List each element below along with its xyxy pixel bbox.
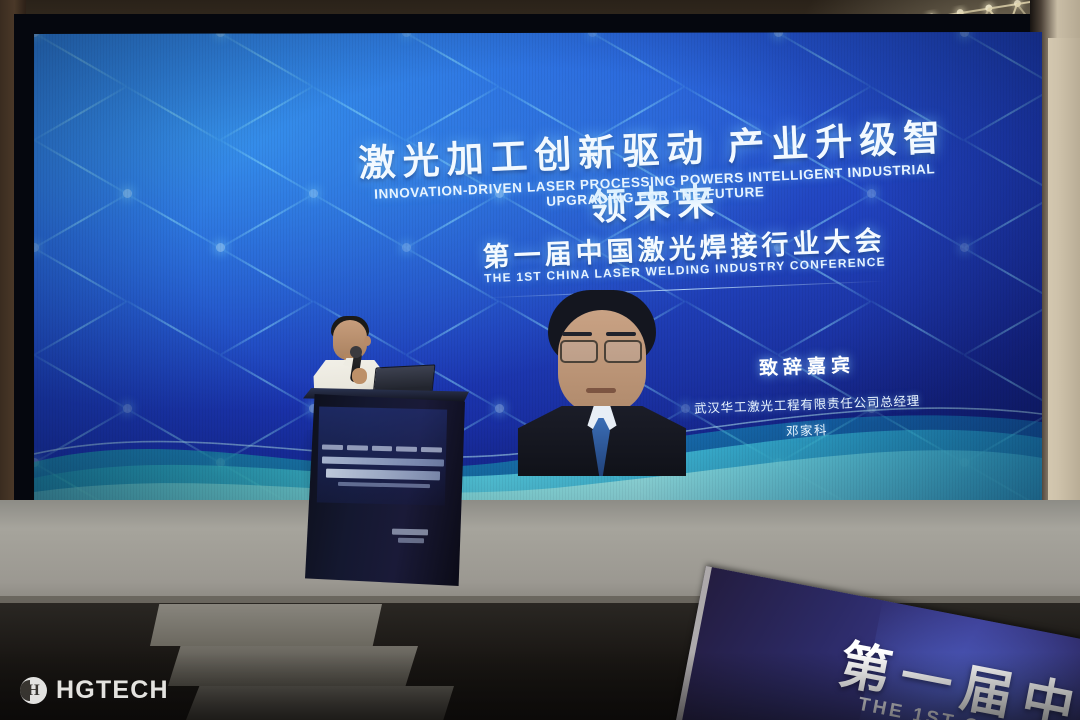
- hexnet-edge: [964, 86, 1043, 141]
- hexnet-edge: [964, 32, 1043, 87]
- podium-logo-3: [372, 445, 393, 451]
- microphone-head: [350, 346, 362, 358]
- hexnet-edge: [964, 193, 1043, 248]
- screenshot-root: 激光加工创新驱动 产业升级智领未来 INNOVATION-DRIVEN LASE…: [0, 0, 1080, 720]
- hexnet-edge: [127, 32, 221, 34]
- stage-step-3: [186, 686, 454, 720]
- podium-logo-2: [347, 445, 368, 451]
- hexnet-edge: [34, 32, 127, 34]
- hexnet-edge: [34, 86, 127, 141]
- hexnet-edge: [964, 140, 1043, 195]
- hexnet-edge: [313, 32, 407, 34]
- wall-right-panel: [1048, 38, 1080, 558]
- portrait-brow-left: [562, 332, 592, 336]
- lattice-bar: [988, 3, 1017, 10]
- hexnet-edge: [685, 301, 779, 356]
- hexnet-edge: [34, 32, 127, 87]
- hexnet-edge: [220, 140, 314, 195]
- hexnet-edge: [964, 32, 1043, 34]
- podium-logo-4: [396, 446, 417, 452]
- hexnet-edge: [778, 32, 872, 87]
- podium-foot-text: [398, 538, 424, 544]
- hexnet-edge: [871, 32, 965, 34]
- hexnet-edge: [406, 32, 500, 87]
- hexnet-node: [123, 189, 132, 198]
- hexnet-edge: [964, 247, 1043, 302]
- hexnet-edge: [34, 193, 127, 248]
- hexnet-edge: [964, 301, 1043, 356]
- stage-edge: [0, 596, 1080, 603]
- hexnet-edge: [127, 301, 221, 356]
- hexnet-edge: [778, 301, 872, 356]
- hexnet-edge: [34, 247, 127, 302]
- speaker-ear: [364, 336, 371, 346]
- podium-logo-1: [322, 444, 343, 450]
- portrait-glasses-right: [604, 340, 642, 363]
- led-screen: 激光加工创新驱动 产业升级智领未来 INNOVATION-DRIVEN LASE…: [34, 32, 1042, 510]
- speaker-hand: [352, 368, 367, 384]
- speaker-portrait: [512, 284, 692, 476]
- stage-step-1: [150, 604, 382, 646]
- hexnet-edge: [34, 140, 127, 195]
- hexnet-edge: [34, 301, 127, 356]
- hexnet-edge: [220, 193, 314, 248]
- hexnet-edge: [220, 86, 314, 141]
- hexnet-edge: [127, 193, 221, 248]
- hexnet-node: [402, 243, 411, 252]
- hexnet-edge: [220, 301, 314, 356]
- hexnet-edge: [592, 32, 686, 34]
- portrait-glasses-left: [560, 340, 598, 363]
- hgtech-logo-icon: H: [20, 677, 47, 704]
- watermark-brand: HGTECH: [56, 676, 169, 705]
- hexnet-edge: [220, 32, 314, 87]
- hexnet-edge: [499, 32, 593, 34]
- hexnet-node: [216, 243, 225, 252]
- hexnet-node: [309, 189, 318, 198]
- portrait-brow-right: [606, 332, 636, 336]
- hexnet-edge: [220, 32, 314, 34]
- led-screen-frame: 激光加工创新驱动 产业升级智领未来 INNOVATION-DRIVEN LASE…: [14, 14, 1030, 514]
- hexnet-edge: [220, 247, 314, 302]
- stage-step-2: [168, 646, 418, 686]
- portrait-mouth: [586, 388, 616, 393]
- hexnet-edge: [685, 32, 779, 34]
- hexnet-node: [960, 243, 969, 252]
- hexnet-edge: [406, 32, 500, 34]
- hexnet-edge: [127, 86, 221, 141]
- podium-logo-5: [421, 446, 442, 452]
- hexnet-edge: [406, 301, 500, 356]
- hexnet-edge: [592, 32, 686, 87]
- hgtech-logo-letter: H: [27, 683, 39, 699]
- watermark: H HGTECH: [20, 676, 169, 705]
- podium-foot-logo: [392, 529, 428, 536]
- hexnet-edge: [778, 32, 872, 34]
